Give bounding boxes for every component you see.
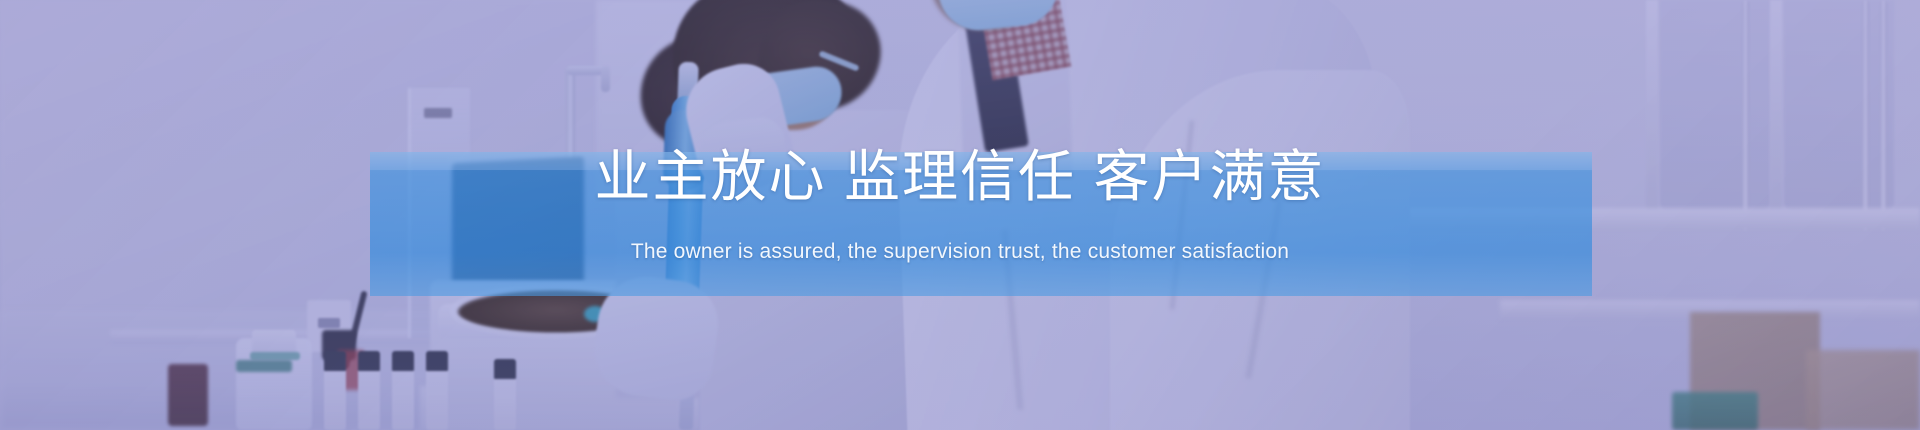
hero-banner: 业主放心 监理信任 客户满意 The owner is assured, the… bbox=[0, 0, 1920, 430]
banner-subheadline: The owner is assured, the supervision tr… bbox=[0, 240, 1920, 264]
banner-headline: 业主放心 监理信任 客户满意 bbox=[0, 148, 1920, 207]
